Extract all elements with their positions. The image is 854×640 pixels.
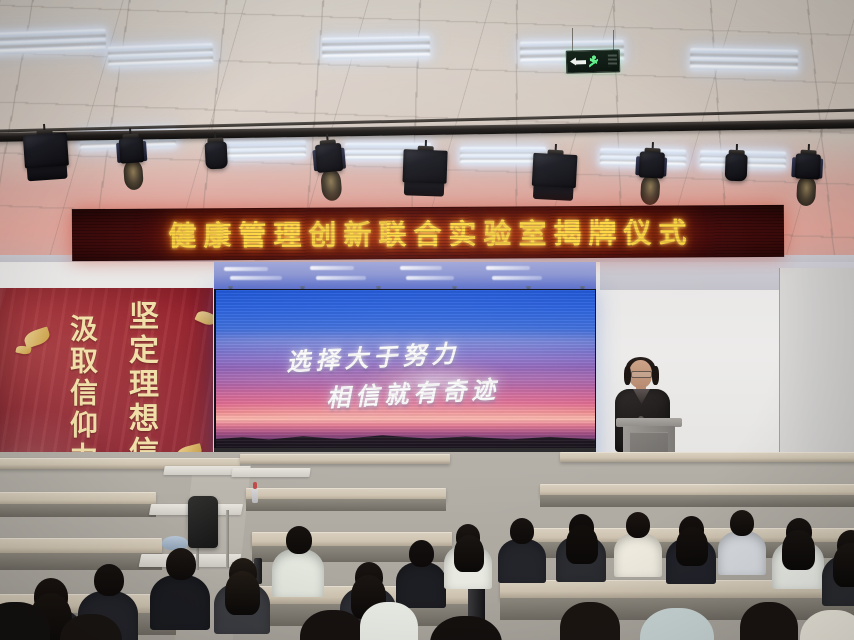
audience-member-head	[409, 540, 434, 567]
audience-member-head	[94, 564, 124, 596]
audience-member	[822, 530, 854, 609]
audience-member-long-hair	[833, 543, 854, 587]
light-housing	[403, 149, 448, 184]
audience-member-foreground	[640, 608, 714, 640]
presenter-glasses	[631, 371, 652, 378]
light-housing	[794, 153, 820, 179]
stage-light-panel	[531, 143, 578, 201]
screen-pixel-scanlines	[216, 290, 595, 453]
stage-light-par	[724, 144, 748, 189]
audience-member	[666, 516, 719, 586]
audience-member	[556, 514, 609, 584]
audience-people	[0, 452, 854, 640]
presenter-hair-left	[624, 366, 631, 385]
audience-member-long-hair	[454, 535, 484, 573]
audience-member-long-hair	[676, 527, 708, 566]
light-housing	[725, 154, 748, 182]
ceiling-glint	[224, 267, 268, 271]
audience-member	[396, 540, 449, 610]
audience-member-torso	[150, 575, 210, 630]
audience-member	[772, 518, 827, 591]
light-housing	[638, 151, 664, 178]
audience-member	[150, 548, 213, 632]
light-lens	[796, 176, 817, 206]
stage-light-panel	[402, 139, 448, 197]
audience-member-long-hair	[225, 571, 260, 615]
ceiling-glint	[400, 266, 442, 270]
light-lens	[320, 168, 343, 202]
audience-member	[614, 512, 664, 579]
audience-member	[498, 518, 548, 585]
audience-member	[718, 510, 768, 577]
ceiling-glint	[310, 266, 354, 270]
light-housing	[532, 153, 578, 188]
audience-member-long-hair	[782, 530, 815, 571]
projection-screen: 选择大于努力 相信就有奇迹	[216, 290, 595, 453]
light-housing	[23, 132, 69, 168]
light-lens	[123, 160, 144, 190]
ceiling-glint	[406, 276, 454, 280]
stage-light-panel	[22, 122, 70, 181]
light-barn-door	[404, 181, 445, 196]
audience-member-head	[166, 548, 196, 580]
audience-member-head	[626, 512, 650, 538]
ceiling-glint	[492, 276, 542, 280]
stage-light-movinghead	[793, 143, 821, 210]
audience-member-torso	[498, 539, 546, 583]
light-housing	[119, 137, 145, 164]
ceiling-glint	[486, 266, 530, 270]
audience-member	[272, 526, 327, 599]
stage-light-par	[204, 131, 228, 176]
audience-member-torso	[272, 549, 324, 597]
audience-member-foreground	[740, 602, 798, 640]
led-headline-banner: 健康管理创新联合实验室揭牌仪式	[72, 205, 784, 261]
stage-light-movinghead	[636, 141, 665, 210]
presenter-hair-right	[652, 366, 659, 385]
audience-member-head	[286, 526, 312, 554]
light-lens	[639, 175, 660, 206]
audience-member-head	[510, 518, 534, 544]
audience-member-head	[730, 510, 754, 536]
audience-member-torso	[718, 531, 766, 575]
audience-member-foreground	[360, 602, 418, 640]
stage-light-movinghead	[314, 133, 346, 207]
led-banner-text: 健康管理创新联合实验室揭牌仪式	[162, 211, 693, 254]
lecture-hall-photo: 健康管理创新联合实验室揭牌仪式 坚定理想信念 汲取信仰力量	[0, 0, 854, 640]
ceiling-glint	[316, 276, 366, 280]
audience-member-torso	[614, 533, 662, 577]
audience-member-torso	[396, 562, 446, 608]
audience-member-foreground	[560, 602, 620, 640]
audience-member-foreground	[430, 616, 502, 640]
ceiling-glint	[230, 276, 282, 280]
audience-area	[0, 452, 854, 640]
audience-member	[214, 558, 273, 637]
light-housing	[315, 143, 343, 173]
audience-member	[444, 524, 494, 591]
audience-member-foreground	[800, 610, 854, 640]
light-housing	[205, 141, 228, 169]
screen-top-ceiling-band	[214, 262, 596, 290]
stage-light-movinghead	[118, 127, 147, 195]
audience-member-long-hair	[566, 525, 598, 564]
